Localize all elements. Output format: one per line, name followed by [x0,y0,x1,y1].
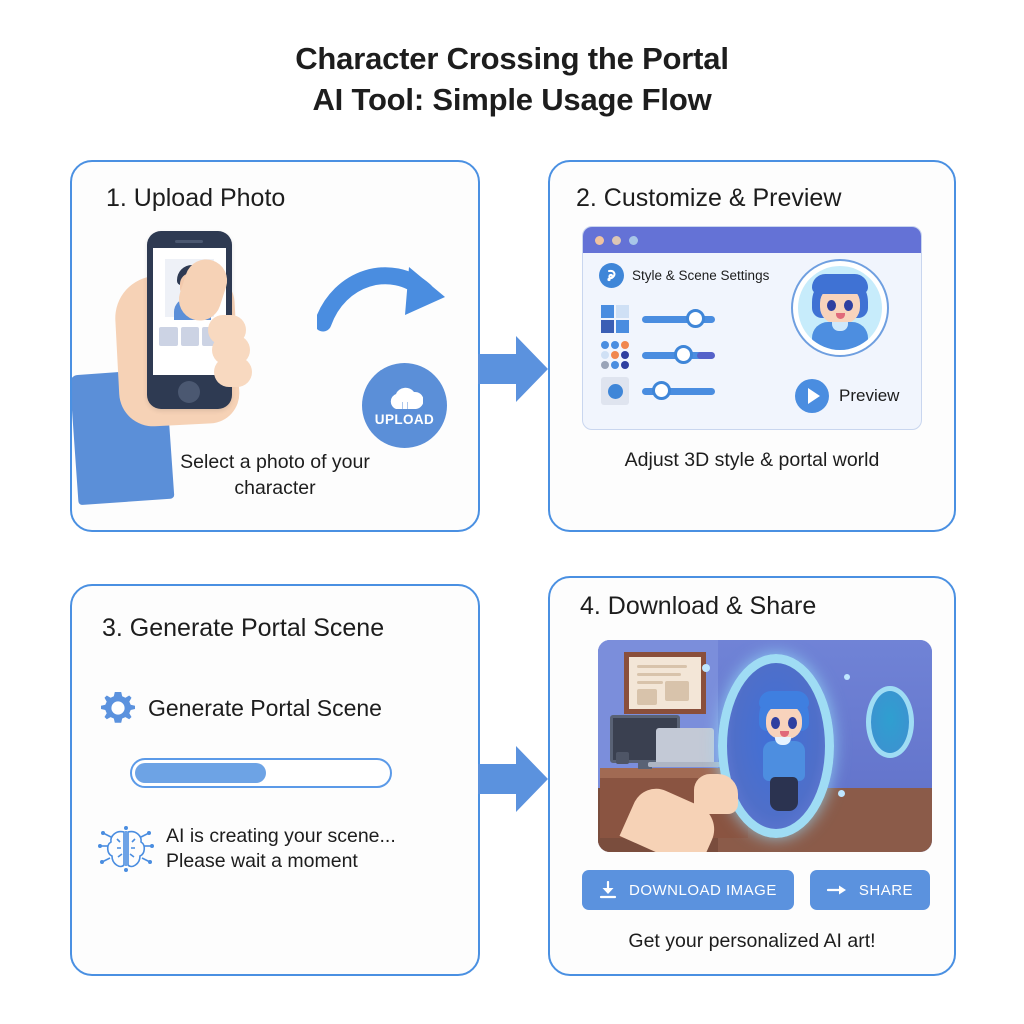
result-scene-image [598,640,932,852]
step-4-heading: 4. Download & Share [580,592,816,621]
sparkle-dot [838,790,845,797]
step-4-caption: Get your personalized AI art! [550,930,954,953]
generation-progress-fill [135,763,266,783]
magic-wand-icon [599,263,624,288]
thumbnail-item[interactable] [181,327,200,346]
scene-slider-track[interactable] [642,352,704,359]
generate-action-label: Generate Portal Scene [148,695,382,722]
phone-speaker [175,240,203,243]
sparkle-dot [844,674,850,680]
arrow-step1-to-step2 [478,330,550,408]
scene-slider-tail [697,352,715,359]
character-eye-left [771,717,780,729]
shape-blur-icon [601,377,629,405]
step-card-generate-portal[interactable]: 3. Generate Portal Scene Generate Portal… [70,584,480,976]
slider-row-blur[interactable] [601,377,704,405]
thumbnail-item[interactable] [159,327,178,346]
window-maximize-dot-icon[interactable] [629,236,638,245]
phone-home-button [178,381,200,403]
preview-button[interactable]: Preview [795,379,899,413]
step-1-caption: Select a photo of your character [72,450,478,502]
step-card-download-share[interactable]: 4. Download & Share [548,576,956,976]
step-1-heading: 1. Upload Photo [106,184,285,213]
avatar-fringe [812,274,868,294]
framed-picture-icon [624,652,706,714]
blur-slider-track[interactable] [642,388,704,395]
ai-brain-icon [98,824,154,876]
window-title-bar [583,227,921,253]
blur-slider-thumb[interactable] [652,381,671,400]
download-image-button-label: DOWNLOAD IMAGE [629,882,777,899]
settings-window-mockup[interactable]: Style & Scene Settings [582,226,922,430]
avatar-eye-right [844,300,853,311]
step-2-heading: 2. Customize & Preview [576,184,841,213]
arrow-step3-to-step4 [478,740,550,818]
scene-slider-thumb[interactable] [674,345,693,364]
generation-progress-bar [130,758,392,788]
slider-row-style[interactable] [601,305,704,333]
style-slider-track[interactable] [642,316,704,323]
step-3-heading: 3. Generate Portal Scene [102,614,384,643]
gear-icon [100,690,136,726]
laptop-icon [656,728,714,764]
portal-secondary [866,686,914,758]
preview-label: Preview [839,386,899,406]
window-close-dot-icon[interactable] [595,236,604,245]
step-1-caption-line-2: character [72,476,478,502]
avatar-image [798,266,882,350]
settings-label: Style & Scene Settings [632,268,769,283]
character-fringe [759,691,809,709]
avatar [791,259,889,357]
infographic-page: Character Crossing the Portal AI Tool: S… [0,0,1024,1024]
upload-illustration: UPLOAD [72,217,480,467]
sparkle-dot [702,664,710,672]
blur-slider-tail [697,388,715,395]
character-face [766,705,802,739]
hand-finger [214,357,252,387]
page-title: Character Crossing the Portal AI Tool: S… [0,38,1024,120]
window-minimize-dot-icon[interactable] [612,236,621,245]
curved-arrow-icon [317,257,457,367]
step-card-upload-photo[interactable]: 1. Upload Photo [70,160,480,532]
avatar-mouth [836,313,845,319]
character-legs [770,777,798,811]
ai-status-line-2: Please wait a moment [166,849,396,874]
laptop-base [648,762,724,767]
download-image-button[interactable]: DOWNLOAD IMAGE [582,870,794,910]
reaching-hand [694,774,738,814]
share-button[interactable]: SHARE [810,870,930,910]
cloud-upload-icon [387,385,423,411]
share-button-label: SHARE [859,882,913,899]
settings-header: Style & Scene Settings [599,263,769,288]
page-title-line-2: AI Tool: Simple Usage Flow [0,79,1024,120]
character-body [763,741,805,781]
play-icon[interactable] [795,379,829,413]
ai-status-line-1: AI is creating your scene... [166,824,396,849]
dot-grid-icon [601,341,629,369]
desk-cup [616,752,629,764]
upload-button-label: UPLOAD [375,412,434,427]
character-eye-right [788,717,797,729]
style-slider-thumb[interactable] [686,309,705,328]
upload-button[interactable]: UPLOAD [362,363,447,448]
ai-status-text: AI is creating your scene... Please wait… [166,824,396,875]
color-grid-icon [601,305,629,333]
generate-action-row[interactable]: Generate Portal Scene [100,690,382,726]
slider-row-scene[interactable] [601,341,704,369]
step-2-caption: Adjust 3D style & portal world [550,448,954,474]
portal-character [755,691,813,815]
download-icon [599,881,617,899]
ai-status-row: AI is creating your scene... Please wait… [98,824,396,876]
page-title-line-1: Character Crossing the Portal [0,38,1024,79]
arrow-right-icon [827,882,847,898]
step-1-caption-line-1: Select a photo of your [72,450,478,476]
action-button-row[interactable]: DOWNLOAD IMAGE SHARE [582,870,930,910]
avatar-eye-left [827,300,836,311]
step-card-customize-preview[interactable]: 2. Customize & Preview Style & Scene Set… [548,160,956,532]
